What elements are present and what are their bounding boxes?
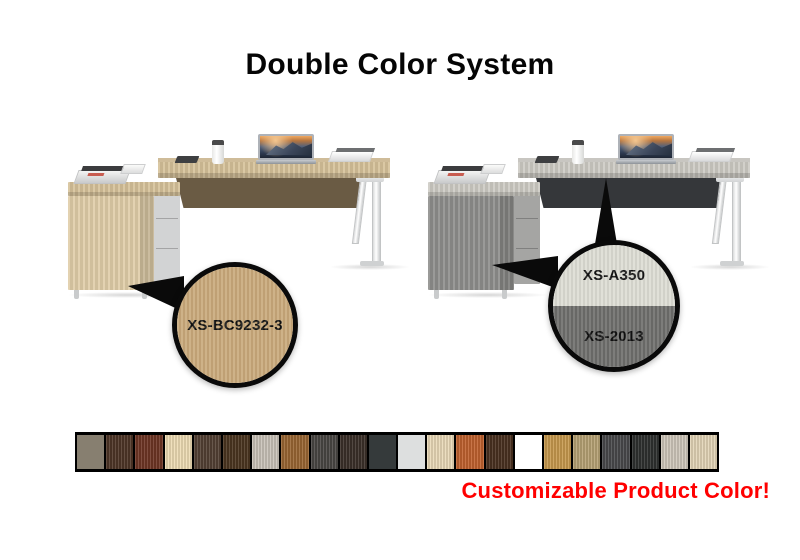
laptop-wallpaper-right (620, 136, 672, 158)
color-swatch-pale-cream[interactable] (690, 435, 717, 469)
swatch-grain-overlay (106, 435, 133, 469)
swatch-grain-overlay (135, 435, 162, 469)
coffee-cup-right (572, 140, 584, 164)
color-swatch-light-grey-beige[interactable] (252, 435, 279, 469)
color-swatch-terracotta-wood[interactable] (456, 435, 483, 469)
color-swatch-near-black-stone[interactable] (632, 435, 659, 469)
laptop-wallpaper-left (260, 136, 312, 158)
callout-label: XS-A350 (583, 267, 645, 284)
drawer-divider (516, 218, 538, 219)
callout-swatch-xs-a350: XS-A350 (553, 245, 675, 306)
customizable-color-note: Customizable Product Color! (461, 478, 770, 504)
swatch-grain-overlay (573, 435, 600, 469)
cabinet-box-left (120, 164, 146, 174)
desk-mat-right (535, 156, 560, 163)
swatch-grain-overlay (544, 435, 571, 469)
cabinet-foot (74, 290, 79, 299)
drawer-divider (516, 248, 538, 249)
desk-leg-near-right (732, 176, 741, 266)
color-swatch-dark-brown[interactable] (194, 435, 221, 469)
laptop-base-right (616, 160, 676, 164)
color-swatch-cream-maple[interactable] (427, 435, 454, 469)
desk-modesty-panel-left (176, 178, 364, 208)
product-showcase-page: Double Color System (0, 0, 800, 560)
swatch-grain-overlay (661, 435, 688, 469)
desk-leg-foot-right (720, 261, 744, 266)
desk-mat-left (175, 156, 200, 163)
callout-label: XS-2013 (584, 328, 644, 345)
swatch-grain-overlay (690, 435, 717, 469)
laptop-left (256, 134, 316, 164)
desk-leg-near-left (372, 176, 381, 266)
swatch-grain-overlay (486, 435, 513, 469)
color-swatch-mahogany-red[interactable] (135, 435, 162, 469)
cabinet-shadow-right (428, 292, 548, 298)
desk-papers-right (688, 151, 734, 162)
swatch-grain-overlay (165, 435, 192, 469)
drawer-divider (156, 248, 178, 249)
swatch-grain-overlay (456, 435, 483, 469)
color-swatch-charcoal-wood[interactable] (311, 435, 338, 469)
color-swatch-light-oak-grain[interactable] (573, 435, 600, 469)
laptop-screen-right (618, 134, 674, 160)
swatch-grain-overlay (281, 435, 308, 469)
swatch-grain-overlay (311, 435, 338, 469)
cabinet-foot (502, 290, 507, 299)
callout-swatch-xs-bc9232-3: XS-BC9232-3 (177, 267, 293, 383)
color-swatch-chocolate-brown[interactable] (486, 435, 513, 469)
color-callout-left[interactable]: XS-BC9232-3 (172, 262, 298, 388)
page-title: Double Color System (0, 48, 800, 82)
swatch-grain-overlay (223, 435, 250, 469)
desk-papers-left (328, 151, 374, 162)
return-top-surface-left (68, 182, 180, 196)
desk-modesty-panel-right (536, 178, 724, 208)
color-swatch-pale-maple[interactable] (165, 435, 192, 469)
cabinet-foot (434, 290, 439, 299)
cabinet-box-right (480, 164, 506, 174)
color-swatch-taupe-grey[interactable] (77, 435, 104, 469)
laptop-base-left (256, 160, 316, 164)
color-swatch-pure-white[interactable] (515, 435, 542, 469)
swatch-grain-overlay (632, 435, 659, 469)
coffee-cup-left (212, 140, 224, 164)
desk-leg-foot-left (360, 261, 384, 266)
return-top-surface-right (428, 182, 540, 196)
color-callout-right[interactable]: XS-A350 XS-2013 (548, 240, 680, 372)
color-swatch-black-brown[interactable] (340, 435, 367, 469)
color-swatch-golden-oak[interactable] (544, 435, 571, 469)
swatch-grain-overlay (252, 435, 279, 469)
callout-label: XS-BC9232-3 (187, 317, 283, 334)
swatch-grain-overlay (340, 435, 367, 469)
color-swatch-dark-walnut[interactable] (106, 435, 133, 469)
color-swatch-strip[interactable] (75, 432, 719, 472)
drawer-divider (156, 218, 178, 219)
color-swatch-deep-walnut-grain[interactable] (223, 435, 250, 469)
desk-top-surface-right (518, 162, 750, 178)
color-swatch-pale-grey-beige[interactable] (661, 435, 688, 469)
callout-pointer-tail-right-cabinet (492, 256, 558, 289)
swatch-grain-overlay (427, 435, 454, 469)
desk-top-surface-left (158, 162, 390, 178)
swatch-grain-overlay (602, 435, 629, 469)
color-swatch-dark-grey-wood[interactable] (602, 435, 629, 469)
callout-swatch-xs-2013: XS-2013 (553, 306, 675, 367)
laptop-right (616, 134, 676, 164)
laptop-screen-left (258, 134, 314, 160)
color-swatch-charcoal-slate[interactable] (369, 435, 396, 469)
color-swatch-medium-oak[interactable] (281, 435, 308, 469)
color-swatch-silver-white[interactable] (398, 435, 425, 469)
swatch-grain-overlay (194, 435, 221, 469)
